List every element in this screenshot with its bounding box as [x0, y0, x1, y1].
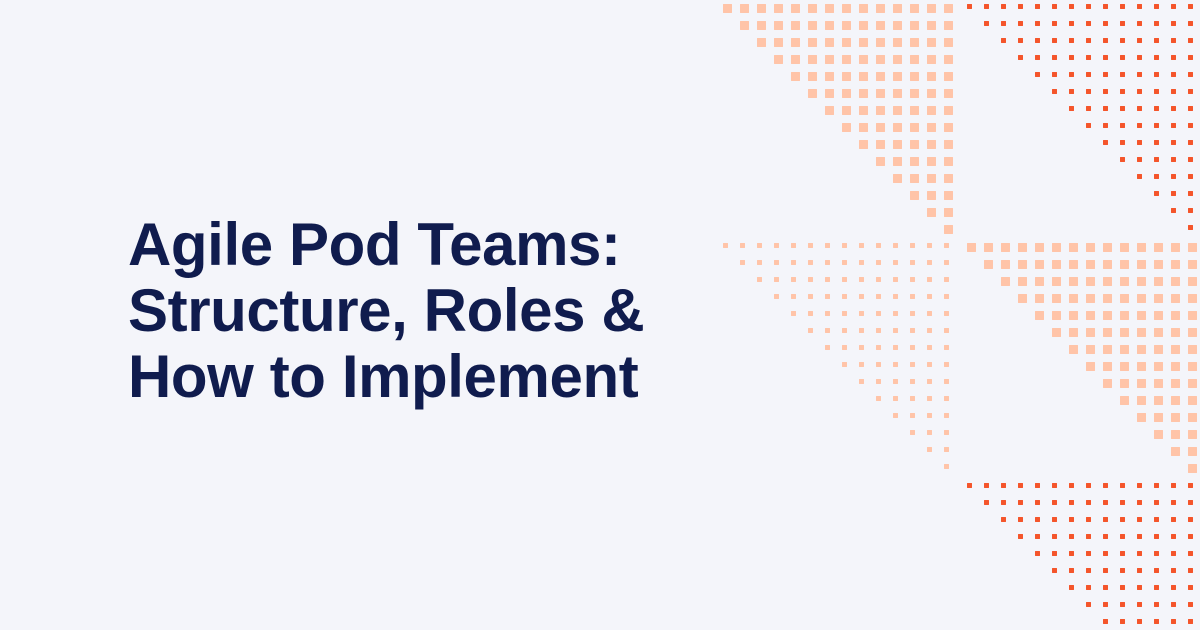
- dot: [1086, 89, 1091, 94]
- dot: [808, 38, 817, 47]
- dot: [944, 413, 949, 418]
- dot: [1171, 38, 1176, 43]
- dot: [876, 311, 881, 316]
- dot: [1018, 483, 1023, 488]
- dot: [859, 55, 868, 64]
- dot: [1035, 260, 1044, 269]
- dot: [910, 89, 919, 98]
- dot: [927, 311, 932, 316]
- dot: [774, 4, 783, 13]
- dot: [1137, 483, 1142, 488]
- dot: [1086, 55, 1091, 60]
- dot: [1103, 72, 1108, 77]
- dot: [757, 243, 762, 248]
- dot: [1137, 311, 1146, 320]
- dot: [1154, 483, 1159, 488]
- dot: [842, 345, 847, 350]
- dot: [876, 345, 881, 350]
- dot: [757, 277, 762, 282]
- dot: [825, 277, 830, 282]
- dot: [1069, 55, 1074, 60]
- dot: [842, 260, 847, 265]
- dot: [1171, 123, 1176, 128]
- dot: [910, 106, 919, 115]
- dot: [774, 38, 783, 47]
- dot: [893, 294, 898, 299]
- dot: [1137, 379, 1146, 388]
- dot: [825, 38, 834, 47]
- dot: [1120, 157, 1125, 162]
- dot: [1035, 277, 1044, 286]
- dot: [1069, 38, 1074, 43]
- dot: [1069, 483, 1074, 488]
- dot: [1069, 345, 1078, 354]
- dot: [808, 328, 813, 333]
- dot-block-top-right: [967, 4, 1200, 242]
- dot: [1188, 140, 1193, 145]
- dot: [1103, 483, 1108, 488]
- dot: [1154, 379, 1163, 388]
- dot: [1171, 106, 1176, 111]
- dot: [1154, 277, 1163, 286]
- dot: [876, 277, 881, 282]
- dot: [1154, 430, 1163, 439]
- dot: [1120, 619, 1125, 624]
- dot: [1035, 483, 1040, 488]
- dot: [1052, 55, 1057, 60]
- dot: [1069, 534, 1074, 539]
- dot: [1035, 294, 1044, 303]
- dot: [1154, 568, 1159, 573]
- dot: [1154, 123, 1159, 128]
- dot: [1018, 260, 1027, 269]
- dot: [808, 311, 813, 316]
- dot: [910, 123, 919, 132]
- dot: [1188, 551, 1193, 556]
- dot: [1103, 500, 1108, 505]
- dot: [927, 140, 936, 149]
- dot: [944, 430, 949, 435]
- dot: [842, 38, 851, 47]
- dot: [825, 21, 834, 30]
- dot: [1171, 362, 1180, 371]
- dot: [791, 72, 800, 81]
- dot: [1001, 277, 1010, 286]
- dot: [927, 123, 936, 132]
- dot: [1069, 72, 1074, 77]
- dot: [1052, 328, 1061, 337]
- dot: [1154, 500, 1159, 505]
- dot: [1052, 500, 1057, 505]
- dot: [1052, 534, 1057, 539]
- dot: [1120, 534, 1125, 539]
- dot: [1018, 277, 1027, 286]
- dot: [944, 447, 949, 452]
- dot: [1035, 21, 1040, 26]
- dot: [1137, 4, 1142, 9]
- dot: [927, 294, 932, 299]
- dot: [876, 21, 885, 30]
- dot: [1171, 430, 1180, 439]
- dot: [1086, 72, 1091, 77]
- dot: [1069, 585, 1074, 590]
- dot: [927, 379, 932, 384]
- dot: [1154, 89, 1159, 94]
- dot: [825, 260, 830, 265]
- dot: [842, 55, 851, 64]
- dot: [910, 379, 915, 384]
- dot: [825, 72, 834, 81]
- dot: [842, 106, 851, 115]
- dot: [1188, 602, 1193, 607]
- dot: [1154, 517, 1159, 522]
- dot: [1171, 55, 1176, 60]
- dot: [791, 38, 800, 47]
- dot: [1188, 106, 1193, 111]
- dot: [944, 277, 949, 282]
- dot: [791, 4, 800, 13]
- dot: [944, 243, 949, 248]
- dot: [1171, 294, 1180, 303]
- dot: [876, 243, 881, 248]
- dot: [1120, 568, 1125, 573]
- dot: [1188, 430, 1197, 439]
- dot: [1086, 4, 1091, 9]
- dot: [1035, 311, 1044, 320]
- dot: [984, 4, 989, 9]
- dot: [774, 243, 779, 248]
- dot: [984, 243, 993, 252]
- dot: [1035, 4, 1040, 9]
- dot: [1018, 4, 1023, 9]
- dot: [1035, 55, 1040, 60]
- dot: [1052, 517, 1057, 522]
- dot: [893, 345, 898, 350]
- dot: [1069, 106, 1074, 111]
- dot: [1137, 243, 1146, 252]
- dot: [1001, 260, 1010, 269]
- dot: [825, 106, 834, 115]
- dot: [876, 89, 885, 98]
- dot: [893, 140, 902, 149]
- dot: [1120, 345, 1129, 354]
- dot: [1052, 260, 1061, 269]
- dot: [1154, 551, 1159, 556]
- dot: [927, 260, 932, 265]
- dot: [944, 294, 949, 299]
- dot: [1137, 89, 1142, 94]
- dot: [1137, 55, 1142, 60]
- dot: [757, 260, 762, 265]
- dot: [774, 260, 779, 265]
- dot: [859, 277, 864, 282]
- dot: [910, 140, 919, 149]
- dot: [1086, 585, 1091, 590]
- dot: [859, 72, 868, 81]
- dot: [893, 123, 902, 132]
- dot: [1052, 568, 1057, 573]
- dot: [910, 260, 915, 265]
- dot: [825, 89, 834, 98]
- dot: [1171, 517, 1176, 522]
- dot: [1086, 277, 1095, 286]
- dot: [1154, 140, 1159, 145]
- dot: [1154, 328, 1163, 337]
- dot: [910, 413, 915, 418]
- dot: [1137, 500, 1142, 505]
- dot: [808, 260, 813, 265]
- dot: [1120, 243, 1129, 252]
- dot: [1171, 500, 1176, 505]
- dot: [1154, 311, 1163, 320]
- dot: [1035, 38, 1040, 43]
- dot: [808, 89, 817, 98]
- dot: [1052, 551, 1057, 556]
- dot: [1069, 551, 1074, 556]
- dot: [1120, 483, 1125, 488]
- dot: [1188, 243, 1197, 252]
- dot-block-middle-right: [967, 243, 1200, 481]
- dot: [1018, 517, 1023, 522]
- dot: [1188, 89, 1193, 94]
- dot: [1103, 585, 1108, 590]
- dot: [1188, 379, 1197, 388]
- dot: [1103, 277, 1112, 286]
- dot: [944, 123, 953, 132]
- dot: [1154, 72, 1159, 77]
- dot: [1188, 21, 1193, 26]
- dot: [1171, 447, 1180, 456]
- dot: [893, 413, 898, 418]
- dot: [927, 430, 932, 435]
- dot: [825, 294, 830, 299]
- dot: [1120, 602, 1125, 607]
- dot: [1086, 362, 1095, 371]
- dot: [808, 72, 817, 81]
- dot: [1154, 191, 1159, 196]
- dot: [1171, 551, 1176, 556]
- dot: [893, 157, 902, 166]
- dot: [876, 38, 885, 47]
- dot: [1086, 602, 1091, 607]
- dot: [1171, 585, 1176, 590]
- dot: [1035, 534, 1040, 539]
- dot: [859, 345, 864, 350]
- dot: [984, 260, 993, 269]
- dot: [967, 243, 976, 252]
- dot: [927, 191, 936, 200]
- dot: [1137, 277, 1146, 286]
- dot: [1188, 225, 1193, 230]
- dot: [876, 4, 885, 13]
- dot: [1171, 260, 1180, 269]
- dot: [740, 243, 745, 248]
- dot: [808, 277, 813, 282]
- dot: [876, 140, 885, 149]
- dot: [910, 157, 919, 166]
- dot: [1171, 243, 1180, 252]
- dot: [1154, 106, 1159, 111]
- dot: [842, 277, 847, 282]
- dot: [1188, 72, 1193, 77]
- dot: [876, 379, 881, 384]
- dot: [1120, 123, 1125, 128]
- dot: [944, 464, 949, 469]
- dot: [808, 55, 817, 64]
- dot: [1052, 38, 1057, 43]
- dot: [1171, 4, 1176, 9]
- dot: [910, 294, 915, 299]
- dot: [944, 38, 953, 47]
- dot: [944, 72, 953, 81]
- dot: [859, 106, 868, 115]
- dot: [1154, 585, 1159, 590]
- dot: [842, 72, 851, 81]
- dot: [910, 72, 919, 81]
- dot: [1188, 38, 1193, 43]
- dot: [842, 311, 847, 316]
- dot: [774, 294, 779, 299]
- dot: [1069, 243, 1078, 252]
- dot: [842, 243, 847, 248]
- dot: [1103, 106, 1108, 111]
- dot: [944, 89, 953, 98]
- dot: [910, 311, 915, 316]
- dot: [825, 243, 830, 248]
- dot: [1120, 106, 1125, 111]
- dot: [808, 294, 813, 299]
- dot: [1103, 568, 1108, 573]
- dot: [944, 328, 949, 333]
- dot: [1103, 345, 1112, 354]
- dot: [910, 38, 919, 47]
- dot: [944, 174, 953, 183]
- dot: [740, 260, 745, 265]
- dot: [927, 157, 936, 166]
- dot: [825, 311, 830, 316]
- dot: [1120, 21, 1125, 26]
- dot: [1069, 328, 1078, 337]
- dot: [1120, 379, 1129, 388]
- dot: [1052, 243, 1061, 252]
- dot: [1103, 294, 1112, 303]
- dot: [927, 396, 932, 401]
- dot: [927, 38, 936, 47]
- dot: [1154, 413, 1163, 422]
- dot: [1120, 140, 1125, 145]
- dot: [1069, 4, 1074, 9]
- dot: [1001, 517, 1006, 522]
- dot: [1035, 72, 1040, 77]
- dot: [1086, 243, 1095, 252]
- dot: [910, 4, 919, 13]
- dot: [1035, 243, 1044, 252]
- dot: [1171, 157, 1176, 162]
- dot: [1137, 174, 1142, 179]
- dot: [1188, 328, 1197, 337]
- dot: [1188, 294, 1197, 303]
- dot: [791, 55, 800, 64]
- dot: [927, 21, 936, 30]
- dot: [774, 55, 783, 64]
- dot: [1188, 534, 1193, 539]
- dot: [791, 260, 796, 265]
- dot: [984, 483, 989, 488]
- dot: [859, 379, 864, 384]
- dot: [1103, 55, 1108, 60]
- dot: [1171, 619, 1176, 624]
- dot: [859, 38, 868, 47]
- dot: [1154, 396, 1163, 405]
- dot: [1137, 534, 1142, 539]
- dot: [842, 362, 847, 367]
- dot: [927, 362, 932, 367]
- dot: [893, 89, 902, 98]
- dot: [1154, 345, 1163, 354]
- dot: [774, 21, 783, 30]
- dot: [1171, 277, 1180, 286]
- dot: [1086, 328, 1095, 337]
- dot: [1137, 568, 1142, 573]
- dot: [1035, 500, 1040, 505]
- dot: [1120, 517, 1125, 522]
- dot: [1069, 500, 1074, 505]
- dot: [1188, 500, 1193, 505]
- dot: [910, 277, 915, 282]
- dot: [1171, 534, 1176, 539]
- dot: [910, 21, 919, 30]
- dot: [893, 21, 902, 30]
- dot: [1137, 345, 1146, 354]
- dot: [1188, 362, 1197, 371]
- dot: [1137, 413, 1146, 422]
- dot: [1001, 483, 1006, 488]
- dot: [1120, 72, 1125, 77]
- dot: [825, 55, 834, 64]
- dot: [1052, 294, 1061, 303]
- dot: [1171, 568, 1176, 573]
- dot: [1188, 55, 1193, 60]
- dot: [910, 430, 915, 435]
- page-title: Agile Pod Teams: Structure, Roles & How …: [128, 212, 728, 410]
- dot: [1086, 260, 1095, 269]
- dot: [1137, 260, 1146, 269]
- dot: [808, 21, 817, 30]
- dot: [1188, 4, 1193, 9]
- dot: [1001, 4, 1006, 9]
- dot: [944, 379, 949, 384]
- dot: [825, 345, 830, 350]
- dot: [1154, 21, 1159, 26]
- dot: [740, 4, 749, 13]
- dot: [859, 140, 868, 149]
- dot: [1154, 157, 1159, 162]
- dot: [1171, 72, 1176, 77]
- dot: [984, 500, 989, 505]
- dot: [1188, 464, 1197, 473]
- dot: [927, 55, 936, 64]
- dot: [944, 21, 953, 30]
- dot: [944, 345, 949, 350]
- dot: [876, 55, 885, 64]
- dot: [1171, 483, 1176, 488]
- dot: [893, 38, 902, 47]
- dot: [808, 243, 813, 248]
- dot: [1120, 362, 1129, 371]
- dot: [842, 123, 851, 132]
- dot: [1188, 345, 1197, 354]
- dot: [859, 123, 868, 132]
